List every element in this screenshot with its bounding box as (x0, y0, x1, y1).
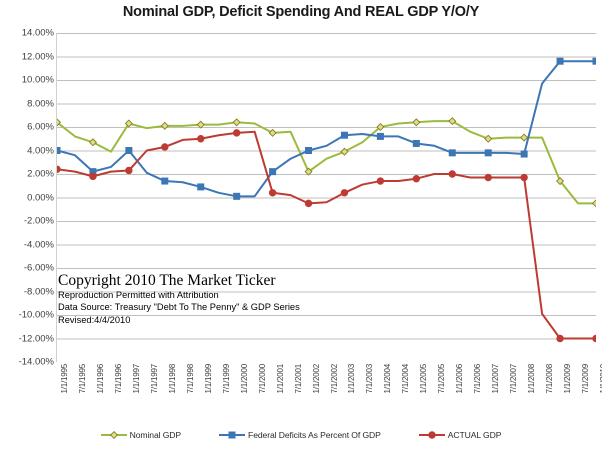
x-tick-label: 7/1/2003 (365, 364, 374, 394)
copyright-reproduction-note: Reproduction Permitted with Attribution (58, 289, 358, 301)
x-tick-label: 1/1/2006 (455, 364, 464, 394)
data-point-marker (485, 150, 491, 156)
chart-title: Nominal GDP, Deficit Spending And REAL G… (0, 4, 602, 20)
chart-legend: Nominal GDPFederal Deficits As Percent O… (0, 430, 602, 440)
data-point-marker (593, 335, 596, 342)
gdp-deficit-chart: Nominal GDP, Deficit Spending And REAL G… (0, 0, 602, 449)
x-tick-label: 7/1/2001 (294, 364, 303, 394)
y-tick-label: -6.00% (2, 263, 54, 274)
legend-entry[interactable]: ACTUAL GDP (419, 430, 502, 440)
data-point-marker (198, 184, 204, 190)
legend-swatch-diamond-icon (101, 430, 127, 440)
x-tick-label: 7/1/2007 (509, 364, 518, 394)
data-point-marker (449, 150, 455, 156)
x-tick-label: 7/1/2008 (545, 364, 554, 394)
x-tick-label: 7/1/2009 (581, 364, 590, 394)
data-point-marker (557, 58, 563, 64)
legend-swatch-circle-icon (419, 430, 445, 440)
x-tick-label: 7/1/1996 (114, 364, 123, 394)
x-axis: 1/1/19957/1/19951/1/19967/1/19961/1/1997… (56, 364, 595, 426)
x-tick-label: 1/1/2000 (240, 364, 249, 394)
copyright-annotation: Copyright 2010 The Market Ticker Reprodu… (58, 272, 358, 326)
data-point-marker (341, 190, 348, 197)
y-tick-label: 6.00% (2, 122, 54, 133)
legend-swatch-square-icon (219, 430, 245, 440)
y-tick-label: -4.00% (2, 239, 54, 250)
data-point-marker (341, 148, 348, 155)
x-tick-label: 1/1/2005 (419, 364, 428, 394)
copyright-data-source: Data Source: Treasury "Debt To The Penny… (58, 301, 358, 313)
data-point-marker (162, 178, 168, 184)
x-tick-label: 7/1/1997 (150, 364, 159, 394)
x-tick-label: 1/1/2008 (527, 364, 536, 394)
data-point-marker (57, 166, 60, 173)
x-tick-label: 1/1/1996 (96, 364, 105, 394)
x-tick-label: 7/1/2000 (258, 364, 267, 394)
y-tick-label: 2.00% (2, 169, 54, 180)
data-point-marker (521, 151, 527, 157)
series-line (57, 61, 596, 196)
data-point-marker (126, 147, 132, 153)
data-point-marker (234, 193, 240, 199)
data-point-marker (229, 432, 235, 438)
y-tick-label: 0.00% (2, 192, 54, 203)
data-point-marker (305, 200, 312, 207)
data-point-marker (341, 132, 347, 138)
x-tick-label: 7/1/1999 (222, 364, 231, 394)
x-tick-label: 7/1/1995 (78, 364, 87, 394)
x-tick-label: 1/1/2009 (563, 364, 572, 394)
x-tick-label: 1/1/2003 (347, 364, 356, 394)
data-point-marker (305, 147, 311, 153)
data-point-marker (593, 58, 596, 64)
x-tick-label: 7/1/2005 (437, 364, 446, 394)
y-tick-label: -8.00% (2, 286, 54, 297)
data-point-marker (413, 140, 419, 146)
x-tick-label: 1/1/1995 (60, 364, 69, 394)
data-point-marker (270, 169, 276, 175)
data-point-marker (126, 167, 133, 174)
data-point-marker (233, 119, 240, 126)
y-tick-label: 12.00% (2, 51, 54, 62)
data-point-marker (485, 135, 492, 142)
data-point-marker (110, 432, 117, 439)
x-tick-label: 7/1/2004 (401, 364, 410, 394)
x-tick-label: 7/1/2002 (330, 364, 339, 394)
data-point-marker (413, 119, 420, 126)
y-axis: 14.00%12.00%10.00%8.00%6.00%4.00%2.00%0.… (0, 33, 54, 362)
data-point-marker (269, 129, 276, 136)
data-point-marker (233, 130, 240, 137)
data-point-marker (485, 174, 492, 181)
data-point-marker (377, 133, 383, 139)
x-tick-label: 1/1/1998 (168, 364, 177, 394)
x-tick-label: 1/1/2001 (276, 364, 285, 394)
legend-label: Federal Deficits As Percent Of GDP (248, 430, 381, 440)
y-tick-label: -12.00% (2, 333, 54, 344)
x-tick-label: 1/1/2002 (312, 364, 321, 394)
y-tick-label: 14.00% (2, 28, 54, 39)
legend-label: ACTUAL GDP (448, 430, 502, 440)
y-tick-label: 10.00% (2, 75, 54, 86)
y-tick-label: 4.00% (2, 145, 54, 156)
data-point-marker (449, 171, 456, 178)
data-point-marker (521, 134, 528, 141)
x-tick-label: 1/1/2007 (491, 364, 500, 394)
data-point-marker (428, 432, 435, 439)
data-point-marker (521, 174, 528, 181)
x-tick-label: 1/1/1997 (132, 364, 141, 394)
copyright-revised-date: Revised:4/4/2010 (58, 314, 358, 326)
data-point-marker (57, 147, 60, 153)
legend-entry[interactable]: Nominal GDP (101, 430, 181, 440)
x-tick-label: 7/1/2006 (473, 364, 482, 394)
x-tick-label: 7/1/1998 (186, 364, 195, 394)
y-tick-label: 8.00% (2, 98, 54, 109)
legend-entry[interactable]: Federal Deficits As Percent Of GDP (219, 430, 381, 440)
data-point-marker (90, 139, 97, 146)
data-point-marker (557, 335, 564, 342)
data-point-marker (413, 175, 420, 182)
data-point-marker (90, 173, 97, 180)
x-tick-label: 1/1/2004 (383, 364, 392, 394)
y-tick-label: -14.00% (2, 357, 54, 368)
y-tick-label: -2.00% (2, 216, 54, 227)
legend-label: Nominal GDP (130, 430, 181, 440)
x-tick-label: 1/1/1999 (204, 364, 213, 394)
copyright-title: Copyright 2010 The Market Ticker (58, 272, 358, 289)
data-point-marker (269, 190, 276, 197)
data-point-marker (161, 122, 168, 129)
data-point-marker (162, 144, 169, 151)
data-point-marker (197, 135, 204, 142)
y-tick-label: -10.00% (2, 310, 54, 321)
data-point-marker (377, 178, 384, 185)
data-point-marker (593, 200, 596, 207)
